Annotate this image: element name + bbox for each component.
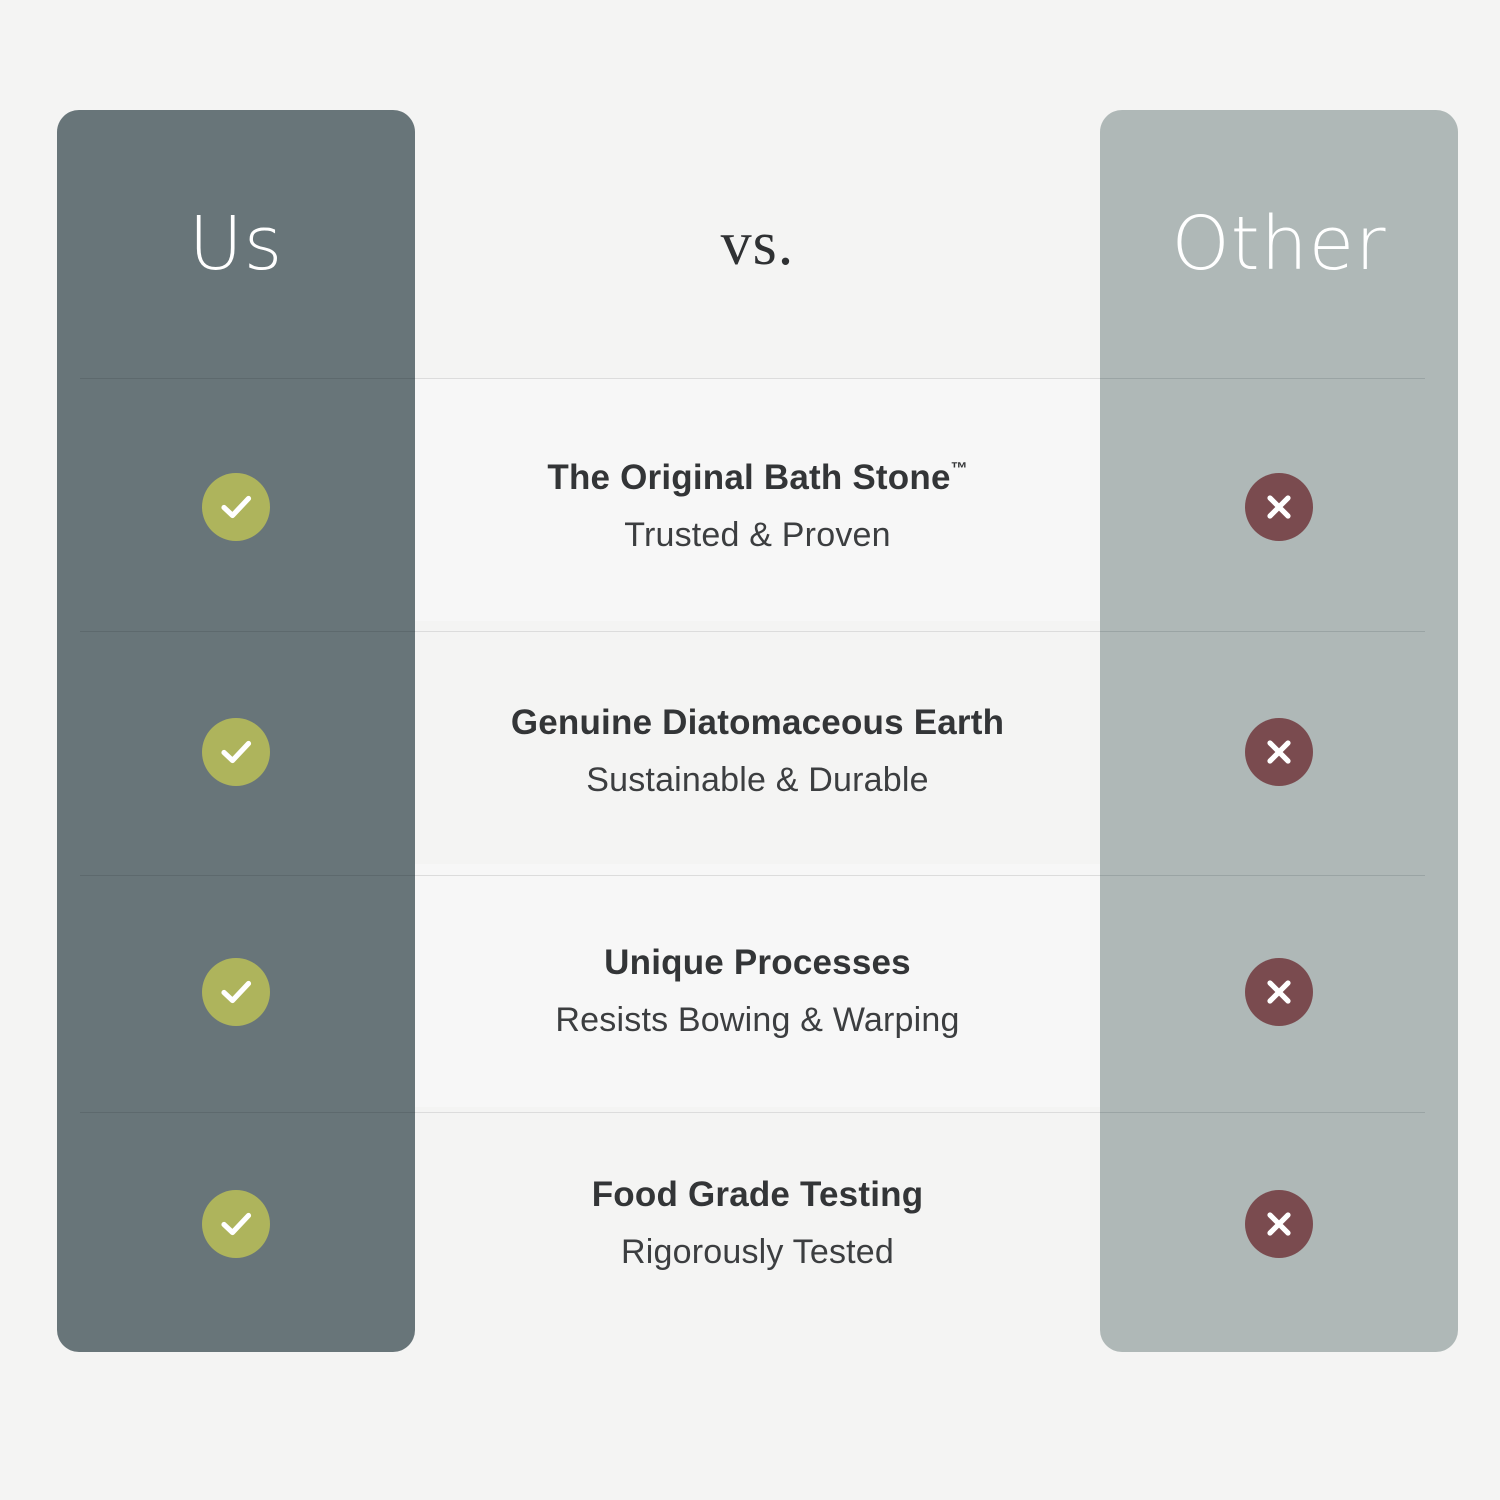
comparison-row: Genuine Diatomaceous Earth Sustainable &… <box>0 630 1500 873</box>
row-divider-left-2 <box>80 631 415 632</box>
header-label-us: Us <box>189 207 284 281</box>
row-divider-right-3 <box>1100 875 1425 876</box>
header-label-vs: vs. <box>721 213 795 275</box>
us-mark-cell <box>57 1102 415 1345</box>
row-divider-left-3 <box>80 875 415 876</box>
feature-text-cell: Food Grade Testing Rigorously Tested <box>415 1102 1100 1345</box>
feature-title: Unique Processes <box>604 943 911 983</box>
feature-subtitle: Resists Bowing & Warping <box>555 1001 959 1040</box>
feature-title: The Original Bath Stone™ <box>547 458 967 498</box>
header-cell-vs: vs. <box>415 110 1100 378</box>
cross-icon <box>1245 718 1313 786</box>
other-mark-cell <box>1100 1102 1458 1345</box>
feature-text-cell: Unique Processes Resists Bowing & Warpin… <box>415 870 1100 1113</box>
comparison-table: Us vs. Other <box>0 0 1500 1500</box>
row-divider-mid-3 <box>415 875 1100 876</box>
cross-icon <box>1245 473 1313 541</box>
check-icon <box>202 718 270 786</box>
feature-subtitle: Trusted & Proven <box>624 516 891 555</box>
row-divider-mid-1 <box>415 378 1100 379</box>
other-mark-cell <box>1100 630 1458 873</box>
comparison-header: Us vs. Other <box>0 110 1500 378</box>
cross-icon <box>1245 1190 1313 1258</box>
us-mark-cell <box>57 385 415 628</box>
check-icon <box>202 958 270 1026</box>
comparison-row: Food Grade Testing Rigorously Tested <box>0 1102 1500 1345</box>
header-cell-us: Us <box>57 110 415 378</box>
us-mark-cell <box>57 630 415 873</box>
feature-title: Food Grade Testing <box>592 1175 924 1215</box>
check-icon <box>202 473 270 541</box>
comparison-row: The Original Bath Stone™ Trusted & Prove… <box>0 385 1500 628</box>
feature-subtitle: Sustainable & Durable <box>586 761 929 800</box>
feature-subtitle: Rigorously Tested <box>621 1233 894 1272</box>
row-divider-right-1 <box>1100 378 1425 379</box>
comparison-row: Unique Processes Resists Bowing & Warpin… <box>0 870 1500 1113</box>
check-icon <box>202 1190 270 1258</box>
trademark-symbol: ™ <box>951 459 968 478</box>
comparison-grid: Us vs. Other <box>0 0 1500 1500</box>
row-divider-right-4 <box>1100 1112 1425 1113</box>
header-label-other: Other <box>1171 207 1386 281</box>
header-cell-other: Other <box>1100 110 1458 378</box>
feature-title: Genuine Diatomaceous Earth <box>511 703 1004 743</box>
us-mark-cell <box>57 870 415 1113</box>
row-divider-mid-2 <box>415 631 1100 632</box>
feature-text-cell: The Original Bath Stone™ Trusted & Prove… <box>415 385 1100 628</box>
row-divider-left-1 <box>80 378 415 379</box>
cross-icon <box>1245 958 1313 1026</box>
other-mark-cell <box>1100 870 1458 1113</box>
row-divider-right-2 <box>1100 631 1425 632</box>
feature-text-cell: Genuine Diatomaceous Earth Sustainable &… <box>415 630 1100 873</box>
other-mark-cell <box>1100 385 1458 628</box>
row-divider-left-4 <box>80 1112 415 1113</box>
row-divider-mid-4 <box>415 1112 1100 1113</box>
